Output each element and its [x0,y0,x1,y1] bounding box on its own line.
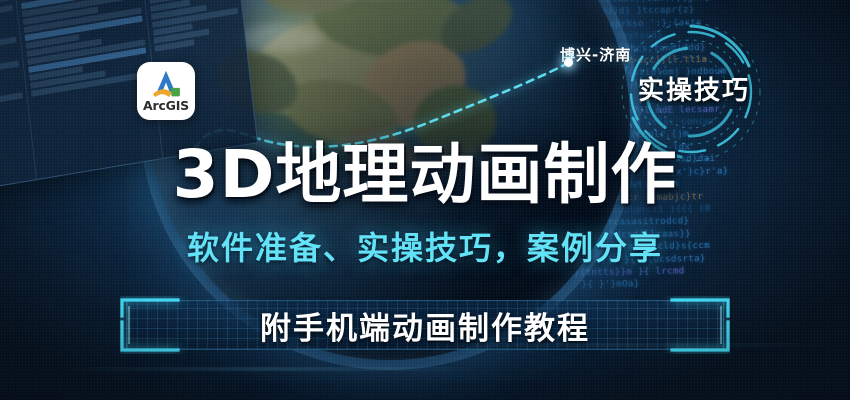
destination-dot-icon [564,58,573,67]
light-streak [60,368,480,370]
light-streak-secondary [380,344,850,346]
page-title: 3D地理动画制作 [0,142,850,208]
poster-root: [{'-'}]{cesamt}[idx()]{gra} {(scsimz)d} … [0,0,850,400]
status-badge: 实操技巧 [638,70,750,107]
arcgis-logo: ArcGIS [137,62,195,120]
arcgis-wordmark: ArcGIS [143,100,189,113]
arcgis-a-icon [149,69,183,99]
page-subtitle: 软件准备、实操技巧，案例分享 [0,232,850,264]
